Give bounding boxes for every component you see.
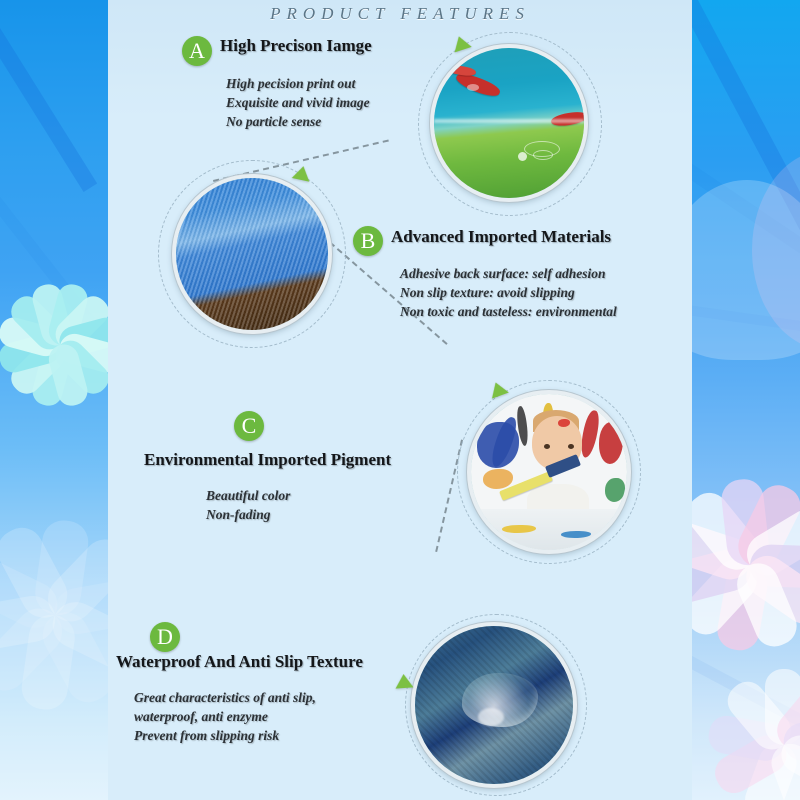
section-body-d: Great characteristics of anti slip, wate… xyxy=(134,688,316,745)
feature-image-a[interactable] xyxy=(430,44,588,202)
badge-c: C xyxy=(234,411,264,441)
left-decorative-band xyxy=(0,0,108,800)
section-body-b: Adhesive back surface: self adhesion Non… xyxy=(400,264,617,321)
feature-image-a-wrap xyxy=(418,32,604,218)
flower-petal xyxy=(784,739,800,800)
badge-a: A xyxy=(182,36,212,66)
badge-b: B xyxy=(353,226,383,256)
section-b-line-3: Non toxic and tasteless: environmental xyxy=(400,302,617,321)
section-d-line-2: waterproof, anti enzyme xyxy=(134,707,316,726)
section-b-line-2: Non slip texture: avoid slipping xyxy=(400,283,617,302)
feature-image-d[interactable] xyxy=(411,622,577,788)
feature-image-d-wrap xyxy=(403,612,593,800)
section-title-c: Environmental Imported Pigment xyxy=(144,450,391,470)
section-a-line-1: High pecision print out xyxy=(226,74,370,93)
section-c-line-2: Non-fading xyxy=(206,505,290,524)
section-a-line-2: Exquisite and vivid image xyxy=(226,93,370,112)
section-d-line-3: Prevent from slipping risk xyxy=(134,726,316,745)
feature-image-c-wrap xyxy=(453,378,645,570)
page-title: PRODUCT FEATURES xyxy=(108,4,692,24)
product-features-infographic: PRODUCT FEATURES xyxy=(0,0,800,800)
section-title-a: High Precison Iamge xyxy=(220,36,372,56)
feature-image-b-wrap xyxy=(158,160,348,350)
section-body-c: Beautiful color Non-fading xyxy=(206,486,290,524)
section-d-line-1: Great characteristics of anti slip, xyxy=(134,688,316,707)
badge-d: D xyxy=(150,622,180,652)
section-a-line-3: No particle sense xyxy=(226,112,370,131)
section-body-a: High pecision print out Exquisite and vi… xyxy=(226,74,370,131)
arrow-triangle-d xyxy=(395,673,414,688)
section-title-b: Advanced Imported Materials xyxy=(391,227,611,247)
section-title-d: Waterproof And Anti Slip Texture xyxy=(116,652,363,672)
section-c-line-1: Beautiful color xyxy=(206,486,290,505)
section-b-line-1: Adhesive back surface: self adhesion xyxy=(400,264,617,283)
feature-image-b[interactable] xyxy=(172,174,332,334)
feature-image-c[interactable] xyxy=(467,390,631,554)
content-panel: PRODUCT FEATURES xyxy=(108,0,692,800)
right-decorative-band xyxy=(692,0,800,800)
